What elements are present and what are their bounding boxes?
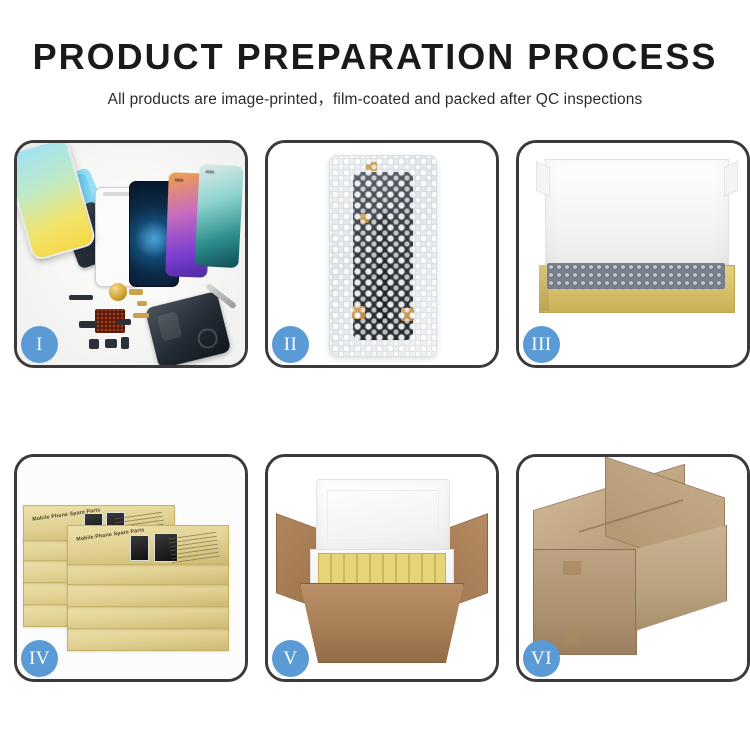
chip-icon [89, 339, 99, 349]
step-badge-1: I [21, 326, 58, 363]
flex-cable-icon [133, 313, 149, 318]
product-swatch-icon [130, 535, 149, 561]
bubble-texture-icon [330, 156, 436, 356]
chip-icon [79, 321, 97, 328]
step-badge-6: VI [523, 640, 560, 677]
step-badge-4: IV [21, 640, 58, 677]
step-badge-2: II [272, 326, 309, 363]
step-card-2: II [265, 140, 499, 368]
box-lid-icon [545, 159, 729, 273]
phone-teal-icon [194, 164, 243, 268]
step-badge-3: III [523, 326, 560, 363]
step-card-1: I [14, 140, 248, 368]
kraft-box-icon [67, 583, 229, 607]
spec-lines-icon [168, 531, 219, 563]
carton-tab-icon [565, 629, 581, 643]
carton-tab-icon [563, 561, 581, 575]
foam-lid-icon [316, 479, 450, 557]
step-card-5: V [265, 454, 499, 682]
step-card-6: VI [516, 454, 750, 682]
carton-body-icon [300, 583, 464, 663]
speaker-module-icon [109, 283, 127, 301]
flex-cable-icon [129, 289, 143, 295]
chip-icon [69, 295, 93, 300]
chip-icon [117, 319, 131, 325]
chip-icon [105, 339, 117, 348]
steps-grid: I II [14, 140, 736, 682]
header: PRODUCT PREPARATION PROCESS All products… [0, 0, 750, 109]
carton-front-icon [533, 549, 637, 655]
page-subtitle: All products are image-printed，film-coat… [0, 87, 750, 109]
step-card-3: III [516, 140, 750, 368]
page-title: PRODUCT PREPARATION PROCESS [0, 38, 750, 76]
step-card-4: Mobile Phone Spare Parts Mobile Phone Sp… [14, 454, 248, 682]
box-stack-icon: Mobile Phone Spare Parts Mobile Phone Sp… [23, 477, 241, 667]
bubble-fill-icon [547, 263, 725, 289]
product-preparation-infographic: PRODUCT PREPARATION PROCESS All products… [0, 0, 750, 750]
step-badge-5: V [272, 640, 309, 677]
kraft-box-top-icon: Mobile Phone Spare Parts [67, 525, 229, 565]
flex-cable-icon [137, 301, 147, 306]
kraft-box-icon [67, 627, 229, 651]
bubble-bag-icon [329, 155, 437, 357]
kraft-box-icon [67, 605, 229, 629]
chip-icon [121, 337, 129, 349]
